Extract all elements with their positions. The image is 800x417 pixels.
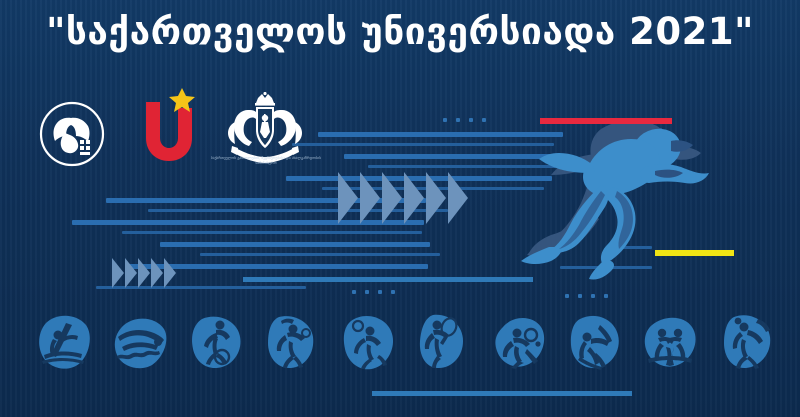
chevron-icon (112, 258, 124, 288)
sport-icon-basketball[interactable] (263, 311, 321, 371)
sport-icon-table-tennis[interactable] (491, 311, 549, 371)
universiade-u-logo (138, 88, 202, 170)
accent-bar-blue-bottom (372, 391, 632, 396)
accent-bar-blue-middle (243, 277, 533, 282)
chevron-icon (360, 172, 380, 224)
poster-canvas: "საქართველოს უნივერსიადა 2021" (0, 0, 800, 417)
sport-icon-tennis[interactable] (415, 311, 473, 371)
sport-icon-handball[interactable] (718, 311, 776, 371)
sport-icon-volleyball[interactable] (339, 311, 397, 371)
sport-icon-canoe-kayak[interactable] (36, 311, 94, 371)
chevron-icon (426, 172, 446, 224)
chevron-icon (338, 172, 358, 224)
chevron-icon (125, 258, 137, 288)
chevron-icon (404, 172, 424, 224)
accent-bar-red (540, 118, 672, 124)
sport-icon-football[interactable] (188, 311, 246, 371)
sport-pictogram-row (36, 310, 776, 372)
poster-title: "საქართველოს უნივერსიადა 2021" (0, 8, 800, 56)
dot-group-left (352, 290, 395, 294)
chevron-group-small (112, 258, 177, 288)
chevron-group-large (338, 172, 470, 224)
chevron-icon (138, 258, 150, 288)
ministry-caption: საქართველოს განათლების, მეცნიერებისა და … (201, 156, 331, 166)
dot-group-right (565, 294, 608, 298)
chevron-icon (448, 172, 468, 224)
title-text: "საქართველოს უნივერსიადა 2021" (46, 8, 754, 56)
sport-icon-gymnastics[interactable] (566, 311, 624, 371)
chevron-icon (164, 258, 176, 288)
sport-icon-swimming[interactable] (112, 311, 170, 371)
accent-bar-yellow (655, 250, 734, 256)
sprinter-silhouette (505, 95, 735, 289)
dot-group-top (443, 118, 486, 122)
georgian-sport-emblem-icon (38, 100, 106, 172)
chevron-icon (151, 258, 163, 288)
chevron-icon (382, 172, 402, 224)
sport-icon-wrestling[interactable] (642, 311, 700, 371)
